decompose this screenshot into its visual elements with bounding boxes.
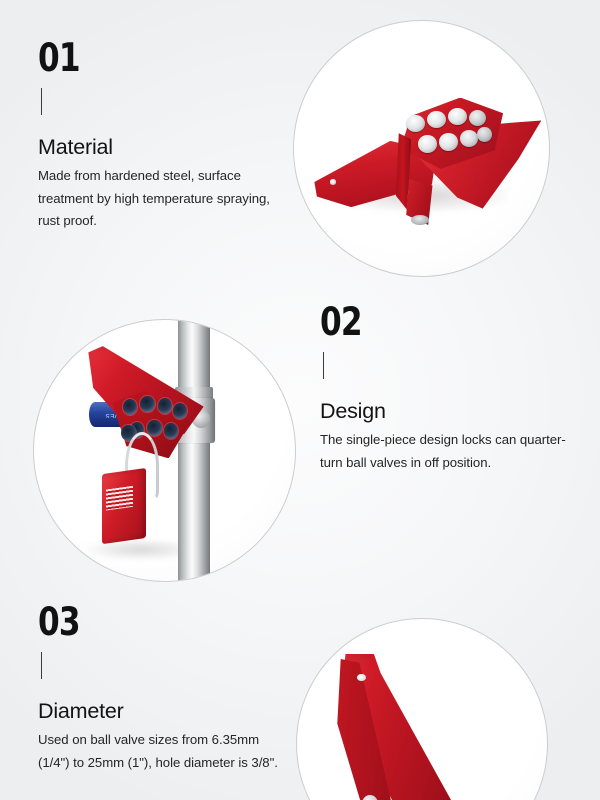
lockout-hole-group — [406, 108, 493, 159]
lockout-hole — [477, 127, 492, 142]
section-02-divider — [323, 352, 324, 379]
lockout-rivet — [357, 674, 366, 681]
lockout-hole — [427, 111, 446, 128]
section-01-heading: Material — [38, 135, 288, 160]
section-01-number: 01 — [38, 40, 238, 77]
section-02-product-photo: VALVES — [33, 319, 296, 582]
section-03-heading: Diameter — [38, 699, 288, 724]
product-lockout-isometric — [294, 21, 549, 276]
infographic-page: 01 Material Made from hardened steel, su… — [0, 0, 600, 800]
lockout-left-rivet — [330, 179, 337, 185]
steel-pipe — [178, 319, 211, 582]
padlock-label — [105, 486, 133, 511]
section-03-text-block: 03 Diameter Used on ball valve sizes fro… — [38, 604, 288, 774]
section-01-divider — [41, 88, 42, 115]
red-padlock — [102, 468, 146, 545]
lockout-hole — [164, 423, 178, 439]
lockout-hole — [140, 396, 154, 412]
lockout-hole — [173, 403, 187, 419]
section-01-text-block: 01 Material Made from hardened steel, su… — [38, 40, 288, 233]
lockout-pivot-bolt — [411, 215, 429, 225]
section-02-body: The single-piece design locks can quarte… — [320, 429, 570, 474]
lockout-hole — [418, 135, 437, 152]
lockout-hole — [439, 133, 458, 150]
lockout-hole — [158, 398, 172, 414]
section-02-text-block: 02 Design The single-piece design locks … — [320, 304, 570, 474]
section-03-body: Used on ball valve sizes from 6.35mm (1/… — [38, 729, 288, 774]
lockout-hole — [147, 420, 161, 436]
section-02-heading: Design — [320, 399, 570, 424]
section-03-divider — [41, 652, 42, 679]
lockout-hole-group — [362, 794, 447, 800]
product-lockout-angled — [297, 619, 547, 800]
section-02-number: 02 — [320, 304, 520, 341]
product-lockout-on-pipe: VALVES — [34, 320, 295, 581]
section-01-body: Made from hardened steel, surface treatm… — [38, 165, 288, 233]
lockout-hole — [460, 130, 478, 147]
section-03-product-photo — [296, 618, 548, 800]
lockout-hole — [362, 795, 378, 800]
lockout-hole — [406, 115, 425, 132]
section-01-product-photo — [293, 20, 550, 277]
section-03-number: 03 — [38, 604, 238, 641]
lockout-hole — [123, 399, 137, 415]
lockout-hole — [469, 110, 486, 126]
lockout-hole — [448, 108, 467, 125]
